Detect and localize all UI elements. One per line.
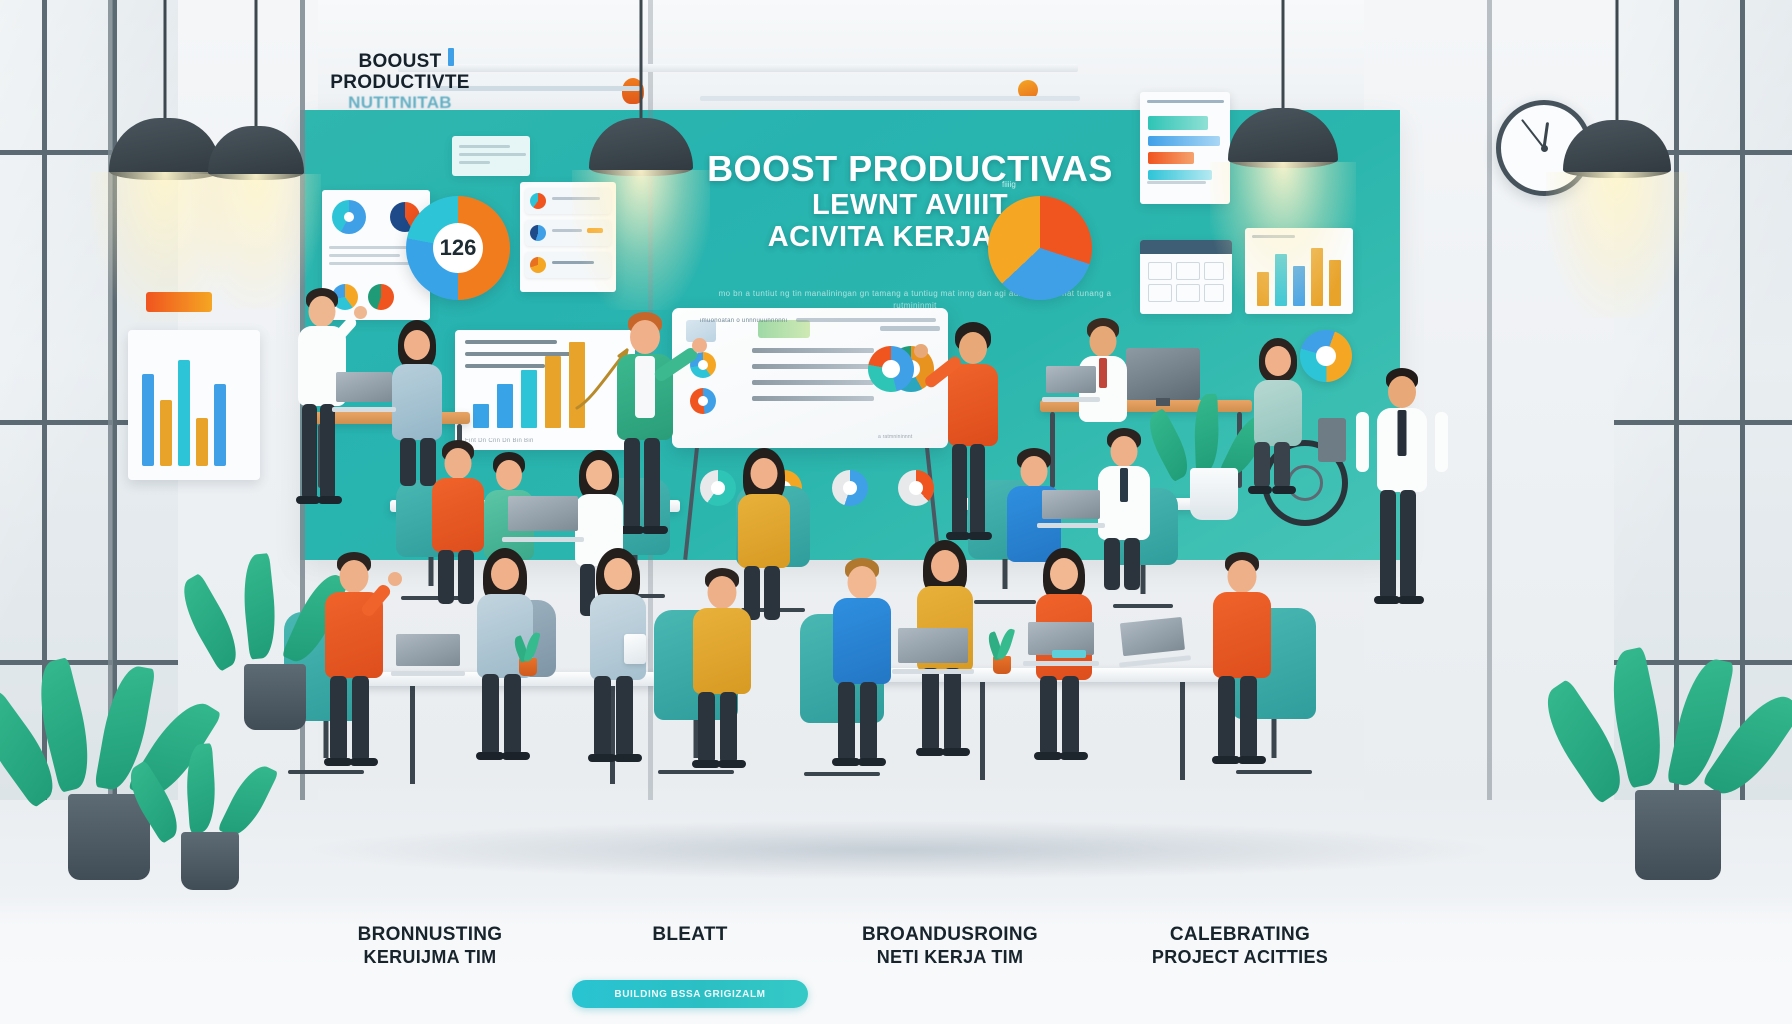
tablet-front[interactable] bbox=[624, 634, 646, 664]
laptop-back-left[interactable] bbox=[336, 372, 392, 412]
flipchart-left bbox=[128, 330, 260, 480]
caption-1: BRONNUSTING KERUIJMA TIM bbox=[300, 924, 560, 968]
caption-2-line1: BLEATT bbox=[652, 924, 727, 945]
caption-3: BROANDUSROING NETI KERJA TIM bbox=[820, 924, 1080, 968]
wall-pie-chart bbox=[988, 196, 1092, 300]
person-front-3 bbox=[572, 548, 664, 782]
poster-small-label bbox=[452, 136, 530, 176]
wall-pie-label: fiiiig bbox=[1002, 180, 1016, 189]
caption-1-line2: KERUIJMA TIM bbox=[300, 947, 560, 969]
board-bottom-donut-4 bbox=[898, 470, 934, 506]
laptop-front-3[interactable] bbox=[1028, 622, 1094, 666]
caption-2-pill-button[interactable]: BUILDING BSSA GRIGIZALM bbox=[572, 980, 808, 1008]
caption-strip: BRONNUSTING KERUIJMA TIM BLEATT BUILDING… bbox=[0, 896, 1792, 1024]
pillar-right-inner bbox=[1487, 0, 1492, 800]
board-donut-right bbox=[868, 346, 914, 392]
notebook-teal bbox=[1052, 650, 1086, 658]
overlay-title-line1: BOOUST bbox=[320, 52, 480, 73]
laptop-front-4[interactable] bbox=[1120, 617, 1186, 667]
person-standing-right bbox=[1360, 368, 1444, 630]
plant-left-small bbox=[150, 726, 270, 890]
caption-3-line2: NETI KERJA TIM bbox=[820, 947, 1080, 969]
laptop-mid-1[interactable] bbox=[508, 496, 578, 542]
pendant-lamp-5 bbox=[1552, 0, 1682, 260]
board-header-rule bbox=[796, 318, 936, 322]
person-front-8 bbox=[1196, 552, 1288, 784]
kpi-donut-chart: 126 bbox=[406, 196, 510, 300]
wheelchair-back bbox=[1318, 418, 1346, 462]
overlay-title-line2: PRODUCTIVTE bbox=[320, 73, 480, 94]
desk-plant-1 bbox=[514, 630, 542, 676]
board-header-label: imuonoatan o unnnuuunnnnni bbox=[700, 318, 787, 324]
kpi-donut-value: 126 bbox=[433, 223, 483, 273]
caption-4: CALEBRATING PROJECT ACITTIES bbox=[1110, 924, 1370, 968]
office-illustration-poster: BOOUST PRODUCTIVTE NUTITNITAB BOOST PROD… bbox=[0, 0, 1792, 1024]
caption-2: BLEATT bbox=[560, 924, 820, 947]
caption-1-line1: BRONNUSTING bbox=[358, 924, 503, 945]
board-donut-small-2 bbox=[690, 388, 716, 414]
overlay-title: BOOUST PRODUCTIVTE NUTITNITAB bbox=[320, 52, 480, 113]
laptop-back-right[interactable] bbox=[1046, 366, 1096, 402]
caption-4-line1: CALEBRATING bbox=[1170, 924, 1310, 945]
laptop-front-1[interactable] bbox=[396, 634, 460, 676]
shelf-lower-2 bbox=[700, 96, 1080, 101]
laptop-front-2[interactable] bbox=[898, 628, 968, 674]
wall-shelf bbox=[398, 64, 1078, 72]
headline-line1: BOOST PRODUCTIVAS bbox=[700, 150, 1120, 189]
necktie bbox=[1398, 410, 1407, 456]
person-front-1 bbox=[308, 552, 400, 784]
plant-right-front bbox=[1588, 600, 1768, 880]
board-bottom-donut-3 bbox=[832, 470, 868, 506]
laptop-seated-back-right[interactable] bbox=[1042, 490, 1100, 528]
pendant-lamp-4 bbox=[1218, 0, 1348, 250]
pendant-lamp-2 bbox=[196, 0, 316, 250]
person-front-4 bbox=[676, 568, 768, 784]
caption-3-line1: BROANDUSROING bbox=[862, 924, 1038, 945]
person-wheelchair-user bbox=[1236, 338, 1320, 518]
board-caption: a ratmnininnnt bbox=[878, 434, 913, 440]
sticky-note-orange bbox=[146, 292, 212, 312]
pendant-lamp-3 bbox=[576, 0, 706, 250]
clock-minute-hand bbox=[1521, 119, 1545, 149]
desk-plant-2 bbox=[988, 626, 1016, 674]
overlay-title-line3: NUTITNITAB bbox=[320, 93, 480, 113]
caption-4-line2: PROJECT ACITTIES bbox=[1110, 947, 1370, 969]
floor-shadow bbox=[300, 820, 1500, 880]
